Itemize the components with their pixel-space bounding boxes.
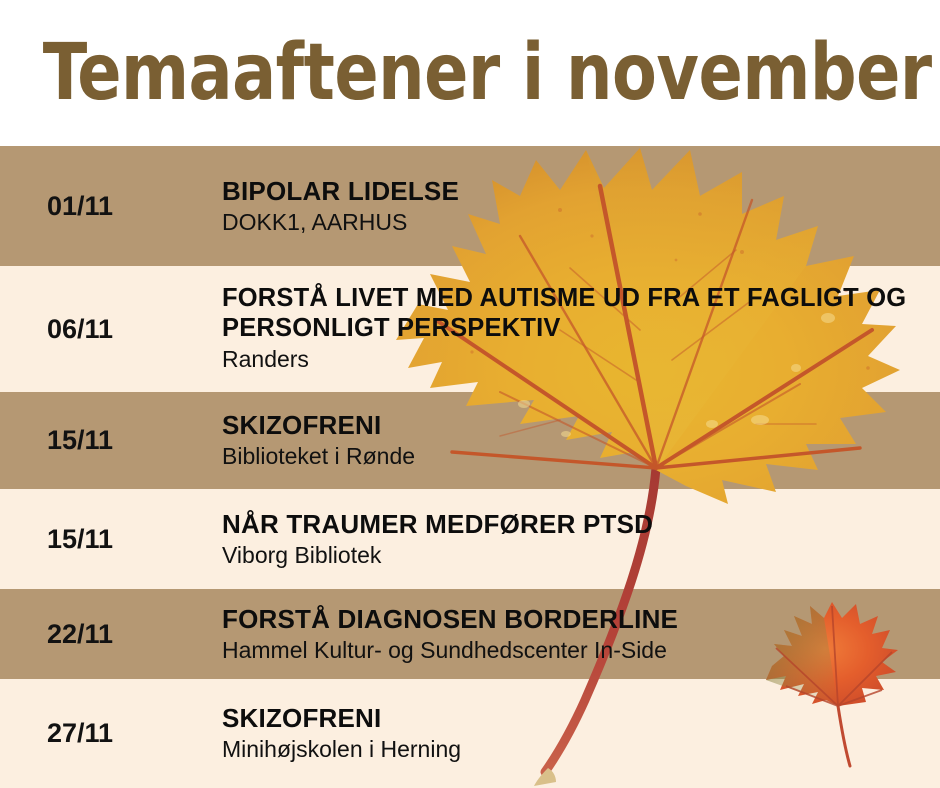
event-date: 27/11 xyxy=(0,718,160,749)
event-title: FORSTÅ LIVET MED AUTISME UD FRA ET FAGLI… xyxy=(222,284,930,343)
event-date: 06/11 xyxy=(0,314,160,345)
event-row[interactable]: 22/11FORSTÅ DIAGNOSEN BORDERLINEHammel K… xyxy=(0,589,940,679)
event-venue: Hammel Kultur- og Sundhedscenter In-Side xyxy=(222,636,930,665)
event-text-block: FORSTÅ DIAGNOSEN BORDERLINEHammel Kultur… xyxy=(160,604,940,665)
poster-root: Temaaftener i november 01/11BIPOLAR LIDE… xyxy=(0,0,940,788)
event-venue: Biblioteket i Rønde xyxy=(222,442,930,471)
event-row[interactable]: 06/11FORSTÅ LIVET MED AUTISME UD FRA ET … xyxy=(0,266,940,392)
poster-header: Temaaftener i november xyxy=(0,0,940,146)
event-title: FORSTÅ DIAGNOSEN BORDERLINE xyxy=(222,604,930,634)
event-venue: DOKK1, AARHUS xyxy=(222,208,930,237)
event-title: SKIZOFRENI xyxy=(222,703,930,733)
event-title: SKIZOFRENI xyxy=(222,410,930,440)
event-date: 15/11 xyxy=(0,425,160,456)
event-title: NÅR TRAUMER MEDFØRER PTSD xyxy=(222,509,930,539)
event-row[interactable]: 01/11BIPOLAR LIDELSEDOKK1, AARHUS xyxy=(0,146,940,266)
event-venue: Minihøjskolen i Herning xyxy=(222,735,930,764)
event-row[interactable]: 15/11NÅR TRAUMER MEDFØRER PTSDViborg Bib… xyxy=(0,489,940,589)
event-date: 15/11 xyxy=(0,524,160,555)
event-row[interactable]: 15/11SKIZOFRENIBiblioteket i Rønde xyxy=(0,392,940,489)
event-text-block: SKIZOFRENIBiblioteket i Rønde xyxy=(160,410,940,471)
event-venue: Randers xyxy=(222,345,930,374)
event-text-block: FORSTÅ LIVET MED AUTISME UD FRA ET FAGLI… xyxy=(160,284,940,374)
event-text-block: NÅR TRAUMER MEDFØRER PTSDViborg Bibliote… xyxy=(160,509,940,570)
event-title: BIPOLAR LIDELSE xyxy=(222,176,930,206)
event-venue: Viborg Bibliotek xyxy=(222,541,930,570)
page-title: Temaaftener i november xyxy=(0,34,932,112)
event-text-block: BIPOLAR LIDELSEDOKK1, AARHUS xyxy=(160,176,940,237)
event-row[interactable]: 27/11SKIZOFRENIMinihøjskolen i Herning xyxy=(0,679,940,788)
event-date: 22/11 xyxy=(0,619,160,650)
event-text-block: SKIZOFRENIMinihøjskolen i Herning xyxy=(160,703,940,764)
event-date: 01/11 xyxy=(0,191,160,222)
